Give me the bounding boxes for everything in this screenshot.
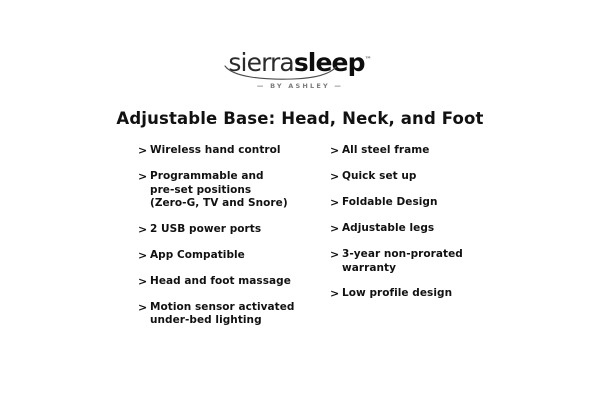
list-item-line: Wireless hand control <box>150 144 281 158</box>
feature-column-left: > Wireless hand control > Programmable a… <box>138 144 330 328</box>
list-item-text: App Compatible <box>150 249 245 263</box>
list-item: > Low profile design <box>330 287 498 301</box>
list-item: > Wireless hand control <box>138 144 330 158</box>
list-item-text: Programmable and pre-set positions (Zero… <box>150 170 288 211</box>
list-item-line: App Compatible <box>150 249 245 263</box>
list-item-line: Programmable and <box>150 170 288 184</box>
list-item-text: Adjustable legs <box>342 222 434 236</box>
bullet-chevron-icon: > <box>330 196 342 210</box>
bullet-chevron-icon: > <box>138 301 150 315</box>
list-item-line: Quick set up <box>342 170 417 184</box>
list-item: > Quick set up <box>330 170 498 184</box>
list-item-text: Foldable Design <box>342 196 437 210</box>
list-item-text: Quick set up <box>342 170 417 184</box>
list-item: > Adjustable legs <box>330 222 498 236</box>
list-item: > App Compatible <box>138 249 330 263</box>
bullet-chevron-icon: > <box>330 144 342 158</box>
list-item-text: Low profile design <box>342 287 452 301</box>
list-item-line: Head and foot massage <box>150 275 291 289</box>
list-item-line: 3-year non-prorated <box>342 248 463 262</box>
bullet-chevron-icon: > <box>138 223 150 237</box>
list-item-line: Motion sensor activated <box>150 301 294 315</box>
bullet-chevron-icon: > <box>138 170 150 184</box>
feature-column-right: > All steel frame > Quick set up > Folda… <box>330 144 498 301</box>
logo-byline: — BY ASHLEY — <box>0 82 600 90</box>
list-item: > Head and foot massage <box>138 275 330 289</box>
list-item-line: 2 USB power ports <box>150 223 261 237</box>
list-item-line: Low profile design <box>342 287 452 301</box>
bullet-chevron-icon: > <box>330 222 342 236</box>
list-item: > Foldable Design <box>330 196 498 210</box>
bullet-chevron-icon: > <box>138 249 150 263</box>
list-item: > Programmable and pre-set positions (Ze… <box>138 170 330 211</box>
list-item-line: Foldable Design <box>342 196 437 210</box>
bullet-chevron-icon: > <box>138 275 150 289</box>
list-item-line: warranty <box>342 262 463 276</box>
bullet-chevron-icon: > <box>330 170 342 184</box>
feature-columns: > Wireless hand control > Programmable a… <box>138 144 498 328</box>
list-item-line: All steel frame <box>342 144 429 158</box>
brand-logo: sierrasleep™ — BY ASHLEY — <box>0 50 600 90</box>
logo-wordmark-wrap: sierrasleep™ <box>228 50 371 75</box>
list-item-text: Wireless hand control <box>150 144 281 158</box>
list-item: > 3-year non-prorated warranty <box>330 248 498 275</box>
bullet-chevron-icon: > <box>330 287 342 301</box>
list-item-line: under-bed lighting <box>150 314 294 328</box>
list-item-line: pre-set positions <box>150 184 288 198</box>
logo-text-sierra: sierra <box>228 48 293 77</box>
list-item: > All steel frame <box>330 144 498 158</box>
product-feature-sheet: sierrasleep™ — BY ASHLEY — Adjustable Ba… <box>0 0 600 400</box>
trademark-symbol: ™ <box>365 56 372 64</box>
bullet-chevron-icon: > <box>330 248 342 262</box>
list-item: > Motion sensor activated under-bed ligh… <box>138 301 330 328</box>
logo-text-sleep: sleep <box>294 48 365 77</box>
logo-text: sierrasleep™ <box>228 50 371 75</box>
list-item-text: All steel frame <box>342 144 429 158</box>
page-title: Adjustable Base: Head, Neck, and Foot <box>0 109 600 128</box>
bullet-chevron-icon: > <box>138 144 150 158</box>
list-item: > 2 USB power ports <box>138 223 330 237</box>
list-item-line: (Zero-G, TV and Snore) <box>150 197 288 211</box>
list-item-line: Adjustable legs <box>342 222 434 236</box>
list-item-text: Head and foot massage <box>150 275 291 289</box>
list-item-text: 2 USB power ports <box>150 223 261 237</box>
list-item-text: 3-year non-prorated warranty <box>342 248 463 275</box>
list-item-text: Motion sensor activated under-bed lighti… <box>150 301 294 328</box>
